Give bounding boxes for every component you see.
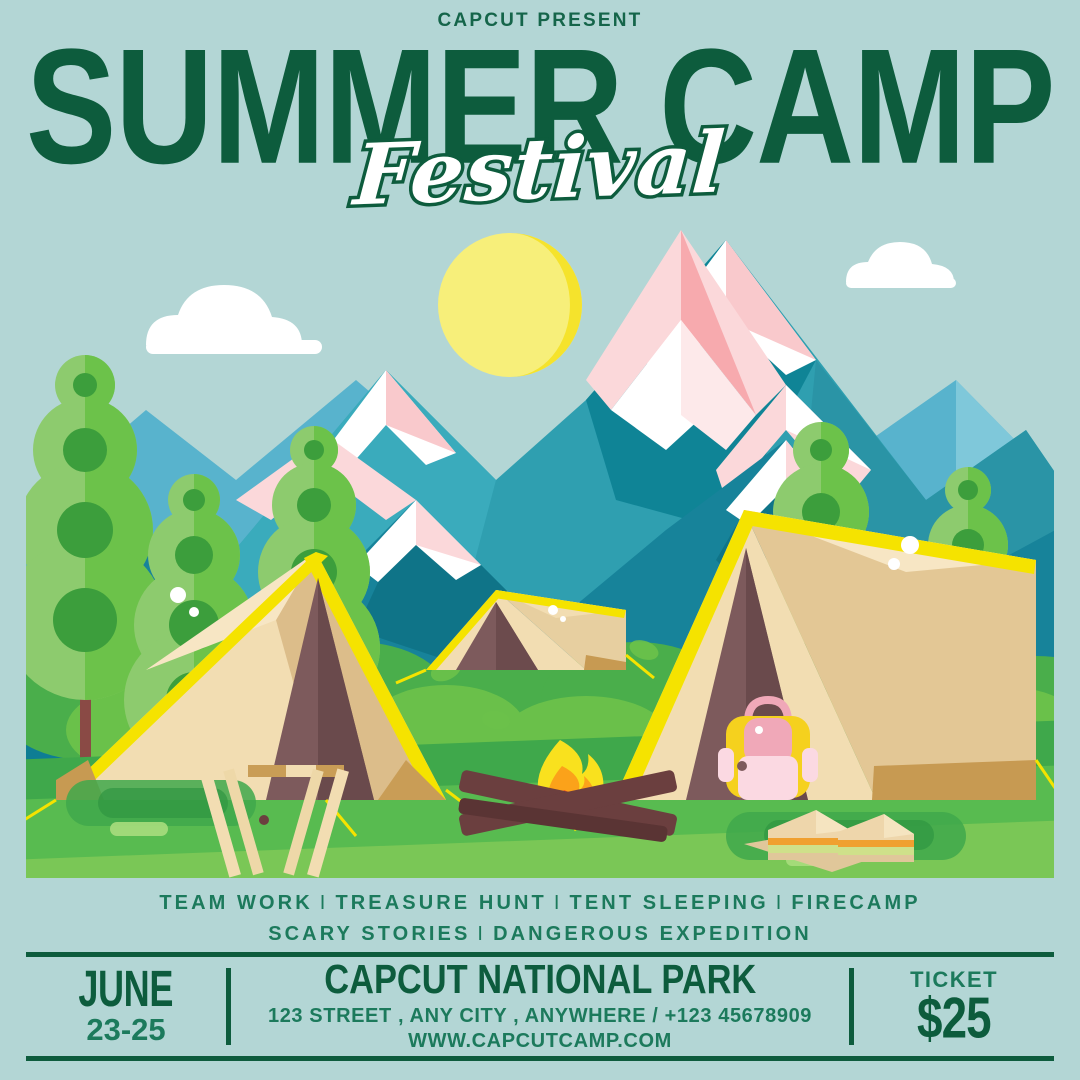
footer: JUNE 23-25 CAPCUT NATIONAL PARK 123 STRE…	[26, 957, 1054, 1056]
activities-list: TEAM WORKITREASURE HUNTITENT SLEEPINGIFI…	[0, 888, 1080, 950]
activity-separator: I	[547, 892, 570, 914]
venue-name: CAPCUT NATIONAL PARK	[324, 959, 756, 1001]
event-date: JUNE 23-25	[26, 957, 226, 1056]
activity-separator: I	[313, 892, 336, 914]
ticket-block: TICKET $25	[854, 957, 1054, 1056]
activity-separator: I	[769, 892, 792, 914]
camp-illustration	[26, 200, 1054, 878]
activity-treasure-hunt: TREASURE HUNT	[335, 892, 546, 914]
page-title: SUMMER CAMP	[26, 36, 1055, 179]
footer-rule-bottom	[26, 1056, 1054, 1061]
activities-line-2: SCARY STORIESIDANGEROUS EXPEDITION	[0, 919, 1080, 950]
venue-block: CAPCUT NATIONAL PARK 123 STREET , ANY CI…	[231, 957, 849, 1056]
activity-firecamp: FIRECAMP	[791, 892, 920, 914]
activity-tent-sleeping: TENT SLEEPING	[570, 892, 769, 914]
activity-scary-stories: SCARY STORIES	[268, 923, 470, 945]
venue-website[interactable]: WWW.CAPCUTCAMP.COM	[408, 1029, 672, 1054]
poster-title-wrap: SUMMER CAMP	[0, 36, 1080, 146]
activities-line-1: TEAM WORKITREASURE HUNTITENT SLEEPINGIFI…	[0, 888, 1080, 919]
venue-address: 123 STREET , ANY CITY , ANYWHERE / +123 …	[268, 1004, 812, 1029]
activity-team-work: TEAM WORK	[159, 892, 312, 914]
ticket-price: $25	[917, 990, 991, 1047]
event-month: JUNE	[79, 965, 174, 1014]
poster: CAPCUT PRESENT SUMMER CAMP Festival	[0, 0, 1080, 1080]
activity-separator: I	[470, 923, 493, 945]
activity-dangerous-expedition: DANGEROUS EXPEDITION	[493, 923, 812, 945]
